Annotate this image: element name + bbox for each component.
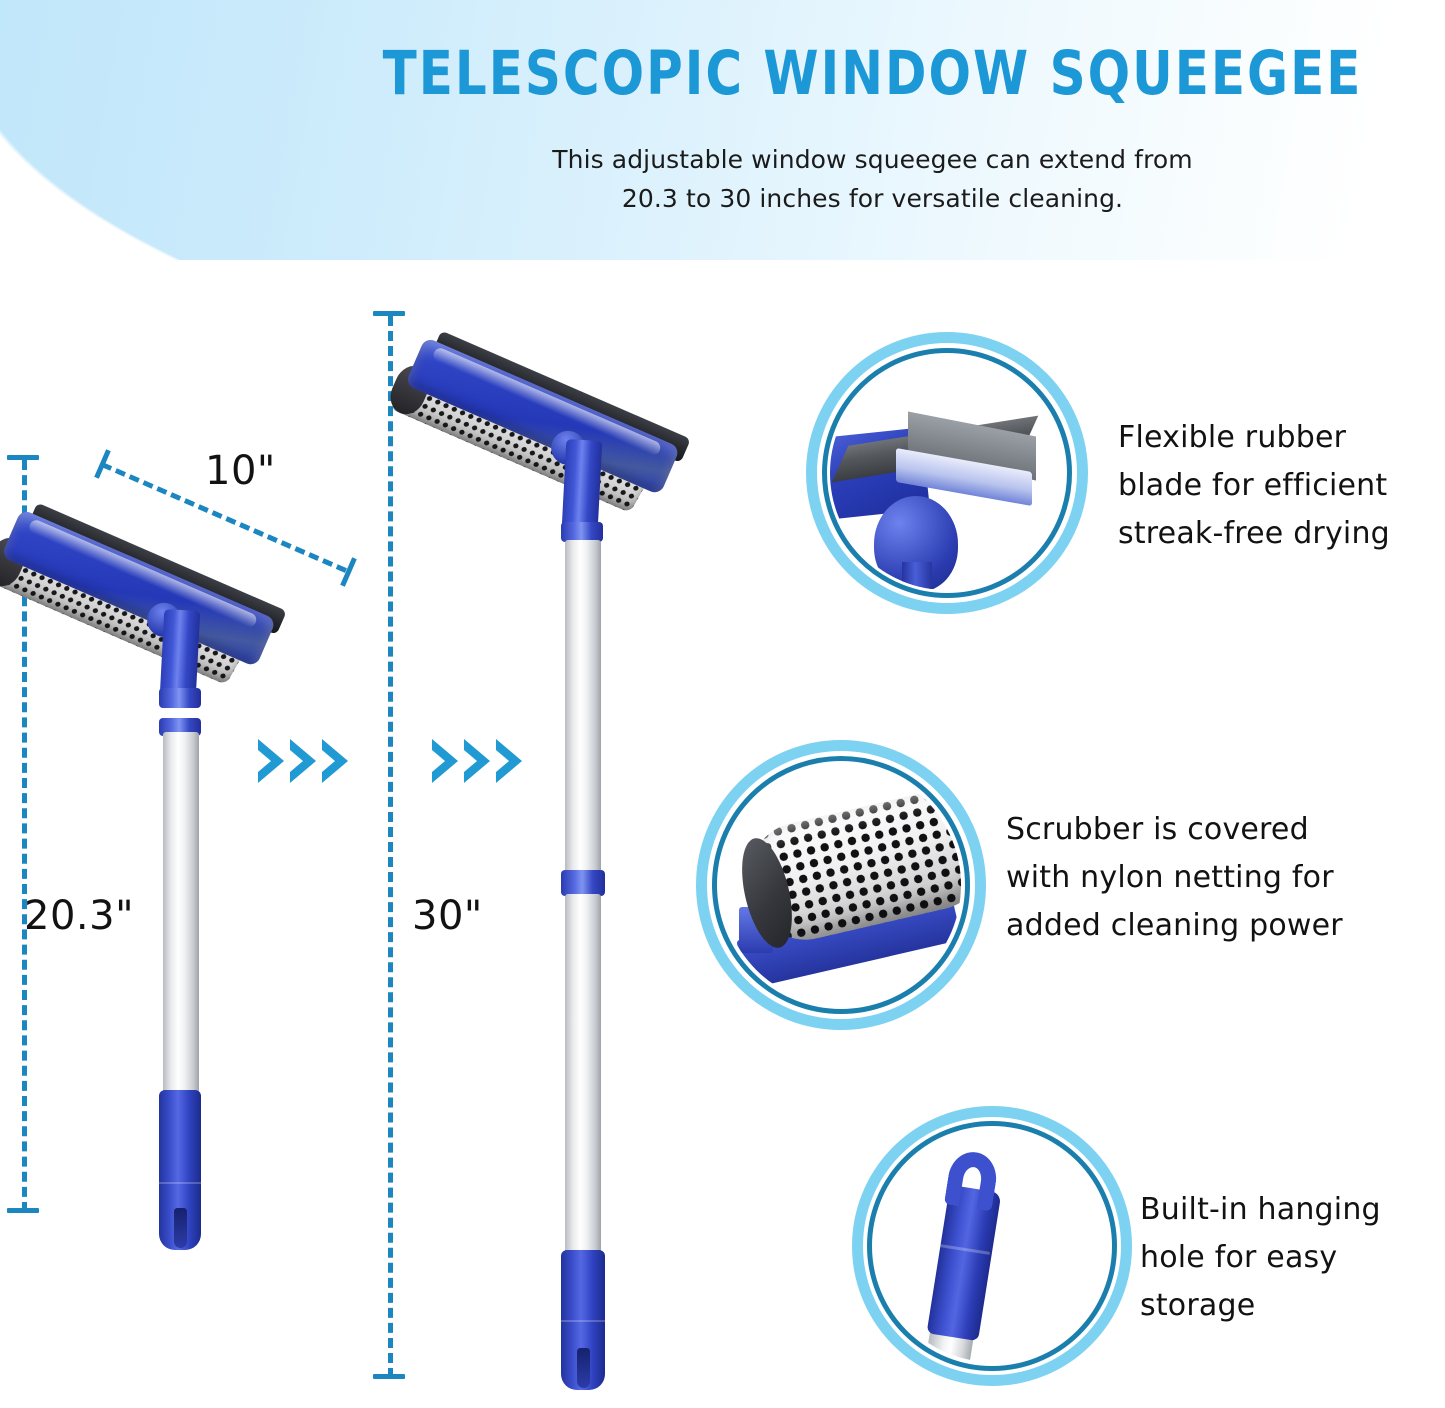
feature-text-line-1: Flexible rubber bbox=[1118, 414, 1445, 462]
inset-ring-outer bbox=[852, 1106, 1132, 1386]
product-squeegee-extended bbox=[400, 300, 740, 1390]
hanging-hole-slot bbox=[577, 1348, 590, 1388]
telescoping-pole bbox=[163, 732, 199, 1102]
squeegee-head-extended bbox=[374, 320, 688, 546]
squeegee-head-collapsed bbox=[0, 492, 284, 718]
page-subtitle-line-1: This adjustable window squeegee can exte… bbox=[300, 140, 1445, 179]
feature-text-line-3: streak-free drying bbox=[1118, 510, 1445, 558]
page-subtitle: This adjustable window squeegee can exte… bbox=[300, 140, 1445, 218]
squeegee-neck bbox=[160, 609, 201, 699]
feature-text-hanging-hole: Built-in hanging hole for easy storage bbox=[1140, 1186, 1440, 1330]
feature-text-line-3: added cleaning power bbox=[1006, 902, 1426, 950]
page-subtitle-line-2: 20.3 to 30 inches for versatile cleaning… bbox=[300, 179, 1445, 218]
hanging-hole-slot bbox=[174, 1208, 187, 1248]
dimension-line-extended-length bbox=[388, 316, 393, 1378]
feature-text-line-2: with nylon netting for bbox=[1006, 854, 1426, 902]
inset-ring-outer bbox=[696, 740, 986, 1030]
handle-grip-seam bbox=[159, 1182, 201, 1184]
telescoping-collar bbox=[159, 688, 201, 708]
telescoping-pole-upper bbox=[565, 540, 601, 880]
inset-hanging-hole bbox=[852, 1106, 1132, 1386]
telescoping-pole-lower bbox=[565, 894, 601, 1260]
squeegee-neck bbox=[562, 439, 603, 531]
feature-text-line-2: hole for easy bbox=[1140, 1234, 1440, 1282]
feature-text-line-1: Scrubber is covered bbox=[1006, 806, 1426, 854]
inset-rubber-blade bbox=[806, 332, 1088, 614]
infographic-canvas: TELESCOPIC WINDOW SQUEEGEE This adjustab… bbox=[0, 0, 1445, 1408]
feature-text-rubber-blade: Flexible rubber blade for efficient stre… bbox=[1118, 414, 1445, 558]
telescoping-lock-ring bbox=[561, 870, 605, 896]
telescoping-collar bbox=[561, 522, 603, 542]
inset-nylon-scrubber bbox=[696, 740, 986, 1030]
feature-text-line-2: blade for efficient bbox=[1118, 462, 1445, 510]
page-title: TELESCOPIC WINDOW SQUEEGEE bbox=[300, 38, 1445, 109]
inset-ring-outer bbox=[806, 332, 1088, 614]
handle-grip-seam bbox=[561, 1320, 605, 1322]
feature-text-line-1: Built-in hanging bbox=[1140, 1186, 1440, 1234]
feature-text-nylon-scrubber: Scrubber is covered with nylon netting f… bbox=[1006, 806, 1426, 950]
feature-text-line-3: storage bbox=[1140, 1282, 1440, 1330]
product-squeegee-collapsed bbox=[0, 440, 340, 1240]
